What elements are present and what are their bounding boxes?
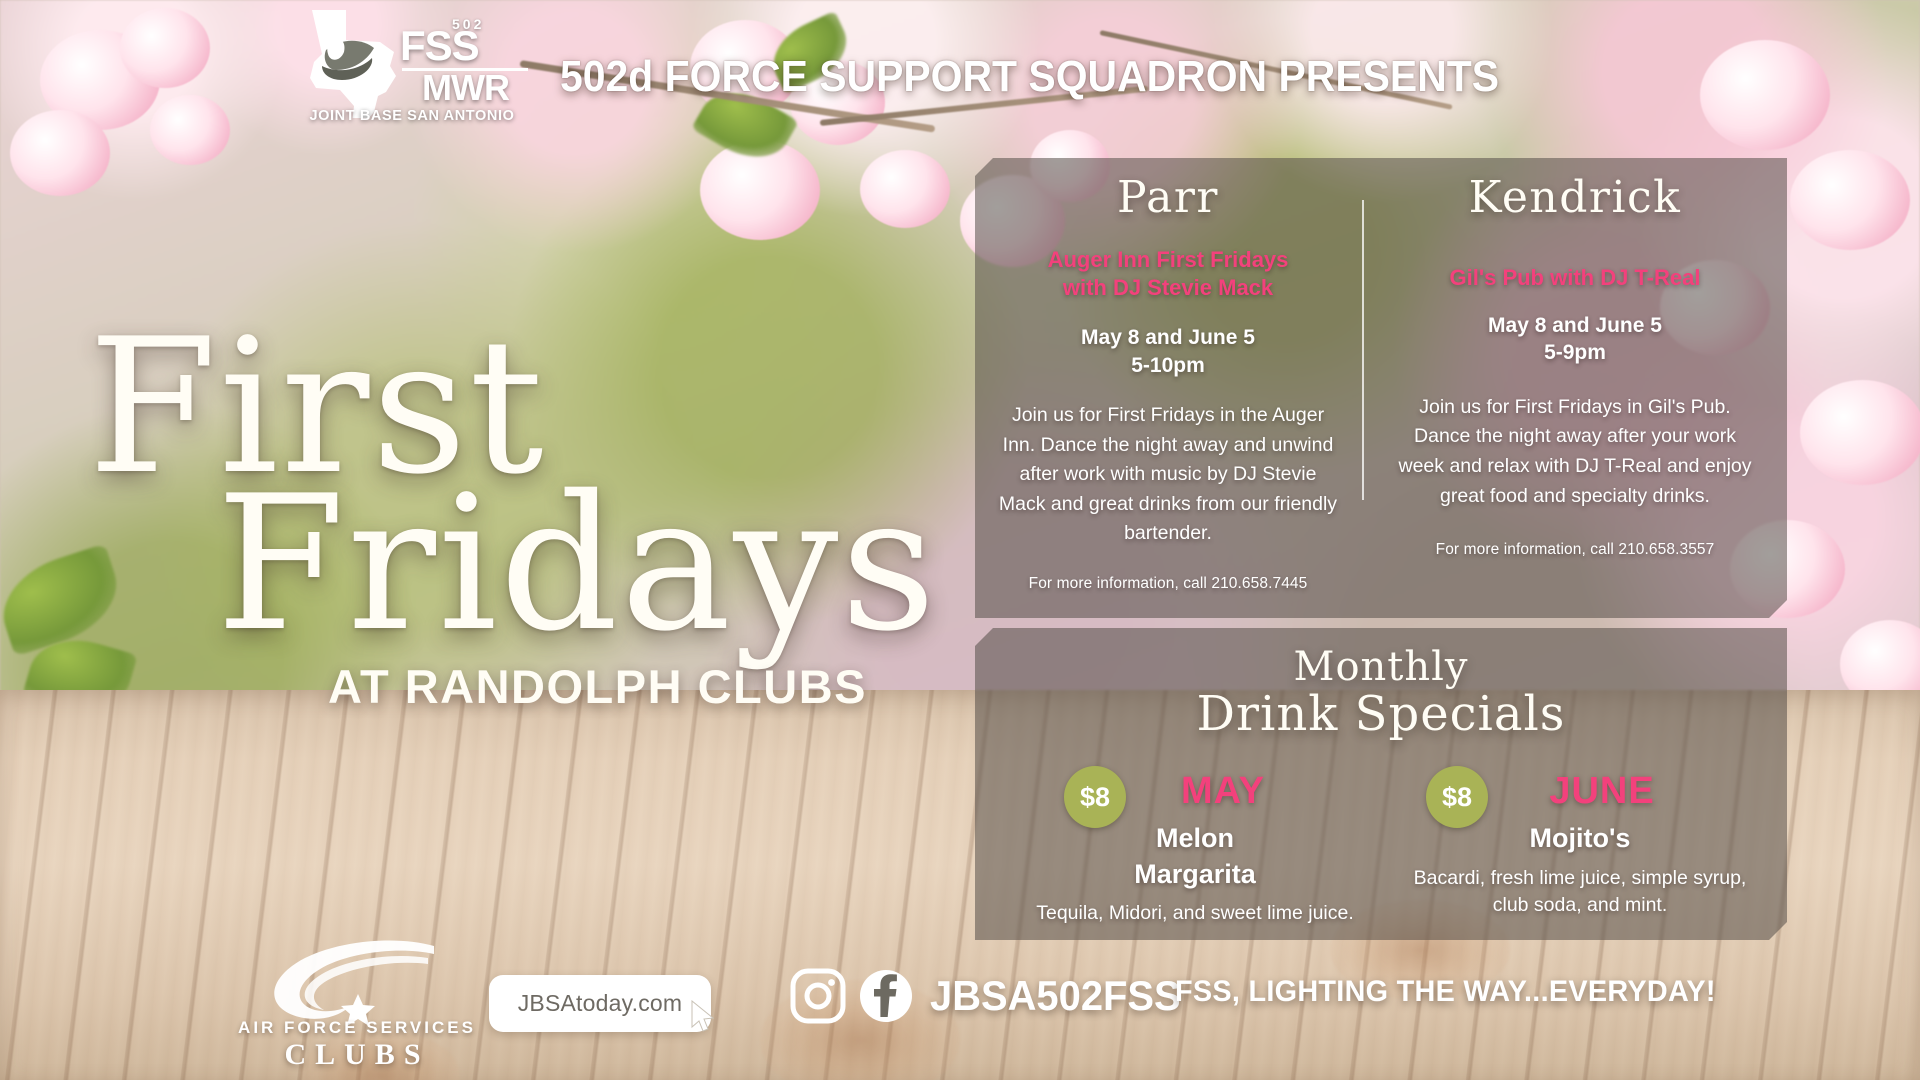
drink-name-may: Melon Margarita [1030,821,1360,892]
price-badge-june: $8 [1426,766,1488,828]
drink-description-may: Tequila, Midori, and sweet lime juice. [1030,900,1360,927]
title-line-fridays: Fridays [216,475,878,654]
venue-time-parr-text: 5-10pm [994,352,1342,379]
fss-tagline: FSS, LIGHTING THE WAY...EVERYDAY! [1175,975,1770,1009]
drink-specials-heading-line2: Drink Specials [975,691,1787,738]
price-badge-may: $8 [1064,766,1126,828]
venue-dates-parr: May 8 and June 5 5-10pm [994,324,1342,379]
drink-name-may-line1: Melon [1030,821,1360,857]
drink-name-may-line2: Margarita [1030,857,1360,893]
venue-event-title-parr-line1: Auger Inn First Fridays [994,246,1342,274]
venue-column-divider [1362,200,1364,500]
venue-name-parr: Parr [994,176,1342,220]
drink-specials-heading-line1: Monthly [975,648,1787,687]
venue-dates-kendrick: May 8 and June 5 5-9pm [1390,312,1760,367]
drink-special-june: $8 JUNE Mojito's Bacardi, fresh lime jui… [1400,770,1760,919]
fss-mwr-wordmark: 502 FSS MWR [400,16,540,112]
drink-description-june: Bacardi, fresh lime juice, simple syrup,… [1400,865,1760,920]
venue-time-kendrick-text: 5-9pm [1390,339,1760,366]
venue-card-parr: Parr Auger Inn First Fridays with DJ Ste… [994,176,1342,593]
drink-special-may: $8 MAY Melon Margarita Tequila, Midori, … [1030,770,1360,928]
clubs-logo-line2: CLUBS [232,1038,482,1072]
venue-description-kendrick: Join us for First Fridays in Gil's Pub. … [1390,393,1760,512]
logo-mwr-text: MWR [422,70,509,106]
logo-subtitle: JOINT BASE SAN ANTONIO [272,108,552,124]
venue-dates-kendrick-text: May 8 and June 5 [1390,312,1760,339]
jbsa-fss-mwr-logo: 502 FSS MWR JOINT BASE SAN ANTONIO [282,8,542,126]
social-links: JBSA502FSS [790,965,1194,1027]
flyer-canvas: 502 FSS MWR JOINT BASE SAN ANTONIO 502d … [0,0,1920,1080]
social-handle: JBSA502FSS [930,972,1181,1020]
drink-month-may: MAY [1086,770,1360,813]
website-label: JBSAtoday.com [518,990,683,1017]
website-button[interactable]: JBSAtoday.com [489,975,711,1032]
texas-outline-icon [282,10,404,118]
venue-card-kendrick: Kendrick Gil's Pub with DJ T-Real May 8 … [1390,176,1760,559]
clubs-logo-line1: AIR FORCE SERVICES [232,1018,482,1038]
venue-contact-kendrick: For more information, call 210.658.3557 [1390,541,1760,559]
event-title-block: First Fridays AT RANDOLPH CLUBS [88,318,878,714]
drink-specials-heading: Monthly Drink Specials [975,648,1787,738]
swoosh-star-icon [262,940,462,1026]
venue-event-title-parr-line2: with DJ Stevie Mack [994,274,1342,302]
facebook-icon[interactable] [858,968,914,1024]
air-force-services-clubs-logo: AIR FORCE SERVICES CLUBS [232,940,482,1070]
title-subtitle: AT RANDOLPH CLUBS [328,659,878,714]
mouse-cursor-icon [690,1000,716,1034]
venue-event-title-parr: Auger Inn First Fridays with DJ Stevie M… [994,246,1342,302]
instagram-icon[interactable] [790,968,846,1024]
venue-description-parr: Join us for First Fridays in the Auger I… [994,401,1342,549]
venue-event-title-kendrick: Gil's Pub with DJ T-Real [1390,264,1760,292]
venue-contact-parr: For more information, call 210.658.7445 [994,575,1342,593]
venue-name-kendrick: Kendrick [1390,176,1760,220]
header: 502 FSS MWR JOINT BASE SAN ANTONIO 502d … [0,0,1920,130]
logo-fss-text: FSS [400,26,479,66]
venue-dates-parr-text: May 8 and June 5 [994,324,1342,351]
drink-month-june: JUNE [1444,770,1760,813]
page-title: 502d FORCE SUPPORT SQUADRON PRESENTS [560,52,1546,102]
